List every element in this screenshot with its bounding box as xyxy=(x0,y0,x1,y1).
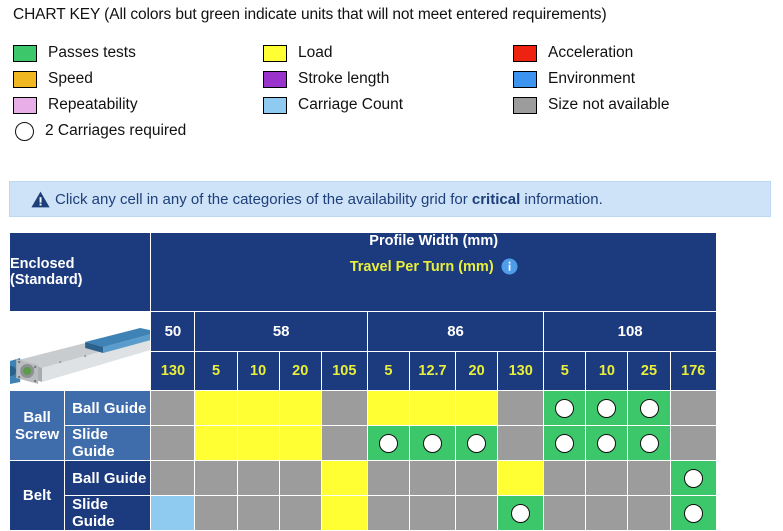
two-carriages-dot-icon xyxy=(511,504,530,523)
grid-cell[interactable] xyxy=(195,426,237,461)
row-group-ball-screw: Ball Screw xyxy=(10,391,65,461)
grid-cell[interactable] xyxy=(409,461,455,496)
grid-cell[interactable] xyxy=(498,391,544,426)
grid-cell[interactable] xyxy=(151,426,195,461)
travel-per-turn-value: 176 xyxy=(670,351,716,391)
color-swatch-icon xyxy=(13,97,37,114)
legend-label: Carriage Count xyxy=(298,96,403,114)
legend-label: Passes tests xyxy=(48,44,136,62)
legend-item-2-carriages-required: 2 Carriages required xyxy=(13,122,263,141)
grid-cell[interactable] xyxy=(195,461,237,496)
table-row: Belt Ball Guide xyxy=(10,461,717,496)
travel-per-turn-value: 130 xyxy=(498,351,544,391)
notice-message: Click any cell in any of the categories … xyxy=(55,191,603,208)
enclosed-standard-label: Enclosed (Standard) xyxy=(10,233,151,312)
profile-width-value: 108 xyxy=(544,312,717,352)
row-label-slide-guide: Slide Guide xyxy=(65,496,151,531)
travel-per-turn-value: 12.7 xyxy=(409,351,455,391)
two-carriages-dot-icon xyxy=(684,504,703,523)
grid-cell[interactable] xyxy=(367,391,409,426)
grid-cell[interactable] xyxy=(321,496,367,531)
grid-cell[interactable] xyxy=(586,391,628,426)
legend-label: Speed xyxy=(48,70,93,88)
grid-cell[interactable] xyxy=(498,461,544,496)
grid-cell[interactable] xyxy=(544,461,586,496)
notice-text-after: information. xyxy=(520,191,603,208)
grid-cell[interactable] xyxy=(409,426,455,461)
table-header-row: Enclosed (Standard) Profile Width (mm) T… xyxy=(10,233,717,312)
grid-cell[interactable] xyxy=(628,496,670,531)
row-label-ball-guide: Ball Guide xyxy=(65,461,151,496)
grid-cell[interactable] xyxy=(237,461,279,496)
legend-item-carriage-count: Carriage Count xyxy=(263,96,513,114)
two-carriages-dot-icon xyxy=(423,434,442,453)
legend-label: Load xyxy=(298,44,332,62)
grid-cell[interactable] xyxy=(456,461,498,496)
grid-cell[interactable] xyxy=(586,426,628,461)
legend-row: Repeatability Carriage Count Size not av… xyxy=(13,92,753,118)
row-label-ball-guide: Ball Guide xyxy=(65,391,151,426)
two-carriages-dot-icon xyxy=(640,399,659,418)
info-circle-icon[interactable] xyxy=(501,258,518,275)
grid-cell[interactable] xyxy=(456,426,498,461)
grid-cell[interactable] xyxy=(544,426,586,461)
grid-cell[interactable] xyxy=(237,426,279,461)
warning-triangle-icon xyxy=(31,191,50,208)
travel-per-turn-value: 10 xyxy=(237,351,279,391)
travel-per-turn-label: Travel Per Turn (mm) xyxy=(350,259,494,275)
grid-cell[interactable] xyxy=(670,461,716,496)
grid-cell[interactable] xyxy=(586,461,628,496)
legend-row: Speed Stroke length Environment xyxy=(13,66,753,92)
grid-cell[interactable] xyxy=(195,391,237,426)
product-image-row: 50 58 86 108 xyxy=(10,312,717,352)
grid-cell[interactable] xyxy=(237,496,279,531)
row-label-slide-guide: Slide Guide xyxy=(65,426,151,461)
color-swatch-icon xyxy=(263,45,287,62)
two-carriages-dot-icon xyxy=(555,434,574,453)
grid-cell[interactable] xyxy=(367,461,409,496)
grid-cell[interactable] xyxy=(498,426,544,461)
color-swatch-icon xyxy=(263,71,287,88)
legend-item-repeatability: Repeatability xyxy=(13,96,263,114)
table-row: Ball Screw Ball Guide xyxy=(10,391,717,426)
legend-item-environment: Environment xyxy=(513,70,753,88)
profile-width-value: 58 xyxy=(195,312,367,352)
legend-row: Passes tests Load Acceleration xyxy=(13,40,753,66)
chart-key-title: CHART KEY (All colors but green indicate… xyxy=(13,6,607,24)
notice-text-before: Click any cell in any of the categories … xyxy=(55,191,472,208)
color-swatch-icon xyxy=(513,97,537,114)
table-row: Slide Guide xyxy=(10,496,717,531)
grid-cell[interactable] xyxy=(367,496,409,531)
legend-item-passes-tests: Passes tests xyxy=(13,44,263,62)
grid-cell[interactable] xyxy=(367,426,409,461)
travel-per-turn-value: 10 xyxy=(586,351,628,391)
availability-grid-table: Enclosed (Standard) Profile Width (mm) T… xyxy=(9,232,717,531)
legend-label: Stroke length xyxy=(298,70,389,88)
travel-per-turn-value: 20 xyxy=(456,351,498,391)
legend-item-size-not-available: Size not available xyxy=(513,96,753,114)
grid-cell[interactable] xyxy=(544,391,586,426)
table-row: Slide Guide xyxy=(10,426,717,461)
grid-cell[interactable] xyxy=(544,496,586,531)
legend-label: Size not available xyxy=(548,96,670,114)
grid-cell[interactable] xyxy=(321,461,367,496)
legend-label: Repeatability xyxy=(48,96,138,114)
two-carriages-dot-icon xyxy=(597,434,616,453)
grid-cell[interactable] xyxy=(628,391,670,426)
circle-outline-icon xyxy=(15,122,34,141)
two-carriages-dot-icon xyxy=(684,469,703,488)
two-carriages-dot-icon xyxy=(467,434,486,453)
travel-per-turn-value: 130 xyxy=(151,351,195,391)
grid-cell[interactable] xyxy=(628,426,670,461)
product-image-cell xyxy=(10,312,151,391)
grid-cell[interactable] xyxy=(151,461,195,496)
grid-cell[interactable] xyxy=(321,426,367,461)
travel-per-turn-value: 25 xyxy=(628,351,670,391)
grid-cell[interactable] xyxy=(279,461,321,496)
linear-actuator-image xyxy=(10,312,150,390)
grid-cell[interactable] xyxy=(195,496,237,531)
travel-per-turn-value: 20 xyxy=(279,351,321,391)
grid-cell[interactable] xyxy=(456,496,498,531)
travel-per-turn-value: 105 xyxy=(321,351,367,391)
grid-cell[interactable] xyxy=(498,496,544,531)
two-carriages-dot-icon xyxy=(640,434,659,453)
grid-cell[interactable] xyxy=(670,391,716,426)
color-swatch-icon xyxy=(13,71,37,88)
two-carriages-dot-icon xyxy=(597,399,616,418)
travel-per-turn-header: Travel Per Turn (mm) xyxy=(151,258,716,275)
grid-cell[interactable] xyxy=(321,391,367,426)
grid-cell[interactable] xyxy=(670,426,716,461)
color-swatch-icon xyxy=(263,97,287,114)
chart-key-legend: Passes tests Load Acceleration Speed Str… xyxy=(13,40,753,144)
notice-text-bold: critical xyxy=(472,191,520,208)
legend-label: Acceleration xyxy=(548,44,633,62)
critical-info-notice: Click any cell in any of the categories … xyxy=(9,181,771,217)
color-swatch-icon xyxy=(13,45,37,62)
grid-cell[interactable] xyxy=(456,391,498,426)
legend-item-speed: Speed xyxy=(13,70,263,88)
profile-width-value: 86 xyxy=(367,312,543,352)
grid-cell[interactable] xyxy=(586,496,628,531)
travel-per-turn-value: 5 xyxy=(367,351,409,391)
grid-cell[interactable] xyxy=(151,496,195,531)
legend-row: 2 Carriages required xyxy=(13,118,753,144)
legend-item-load: Load xyxy=(263,44,513,62)
legend-item-acceleration: Acceleration xyxy=(513,44,753,62)
grid-cell[interactable] xyxy=(670,496,716,531)
grid-cell[interactable] xyxy=(237,391,279,426)
grid-cell[interactable] xyxy=(151,391,195,426)
color-swatch-icon xyxy=(513,71,537,88)
color-swatch-icon xyxy=(513,45,537,62)
profile-width-value: 50 xyxy=(151,312,195,352)
profile-width-header: Profile Width (mm) Travel Per Turn (mm) xyxy=(151,233,717,312)
grid-cell[interactable] xyxy=(628,461,670,496)
grid-cell[interactable] xyxy=(279,391,321,426)
profile-width-label: Profile Width (mm) xyxy=(151,233,716,249)
grid-cell[interactable] xyxy=(409,391,455,426)
legend-item-stroke-length: Stroke length xyxy=(263,70,513,88)
legend-label: Environment xyxy=(548,70,635,88)
legend-label: 2 Carriages required xyxy=(45,122,186,140)
two-carriages-dot-icon xyxy=(379,434,398,453)
grid-cell[interactable] xyxy=(279,496,321,531)
two-carriages-dot-icon xyxy=(555,399,574,418)
travel-per-turn-value: 5 xyxy=(544,351,586,391)
row-group-belt: Belt xyxy=(10,461,65,531)
travel-per-turn-value: 5 xyxy=(195,351,237,391)
grid-cell[interactable] xyxy=(279,426,321,461)
availability-grid-page: CHART KEY (All colors but green indicate… xyxy=(0,0,783,477)
grid-cell[interactable] xyxy=(409,496,455,531)
